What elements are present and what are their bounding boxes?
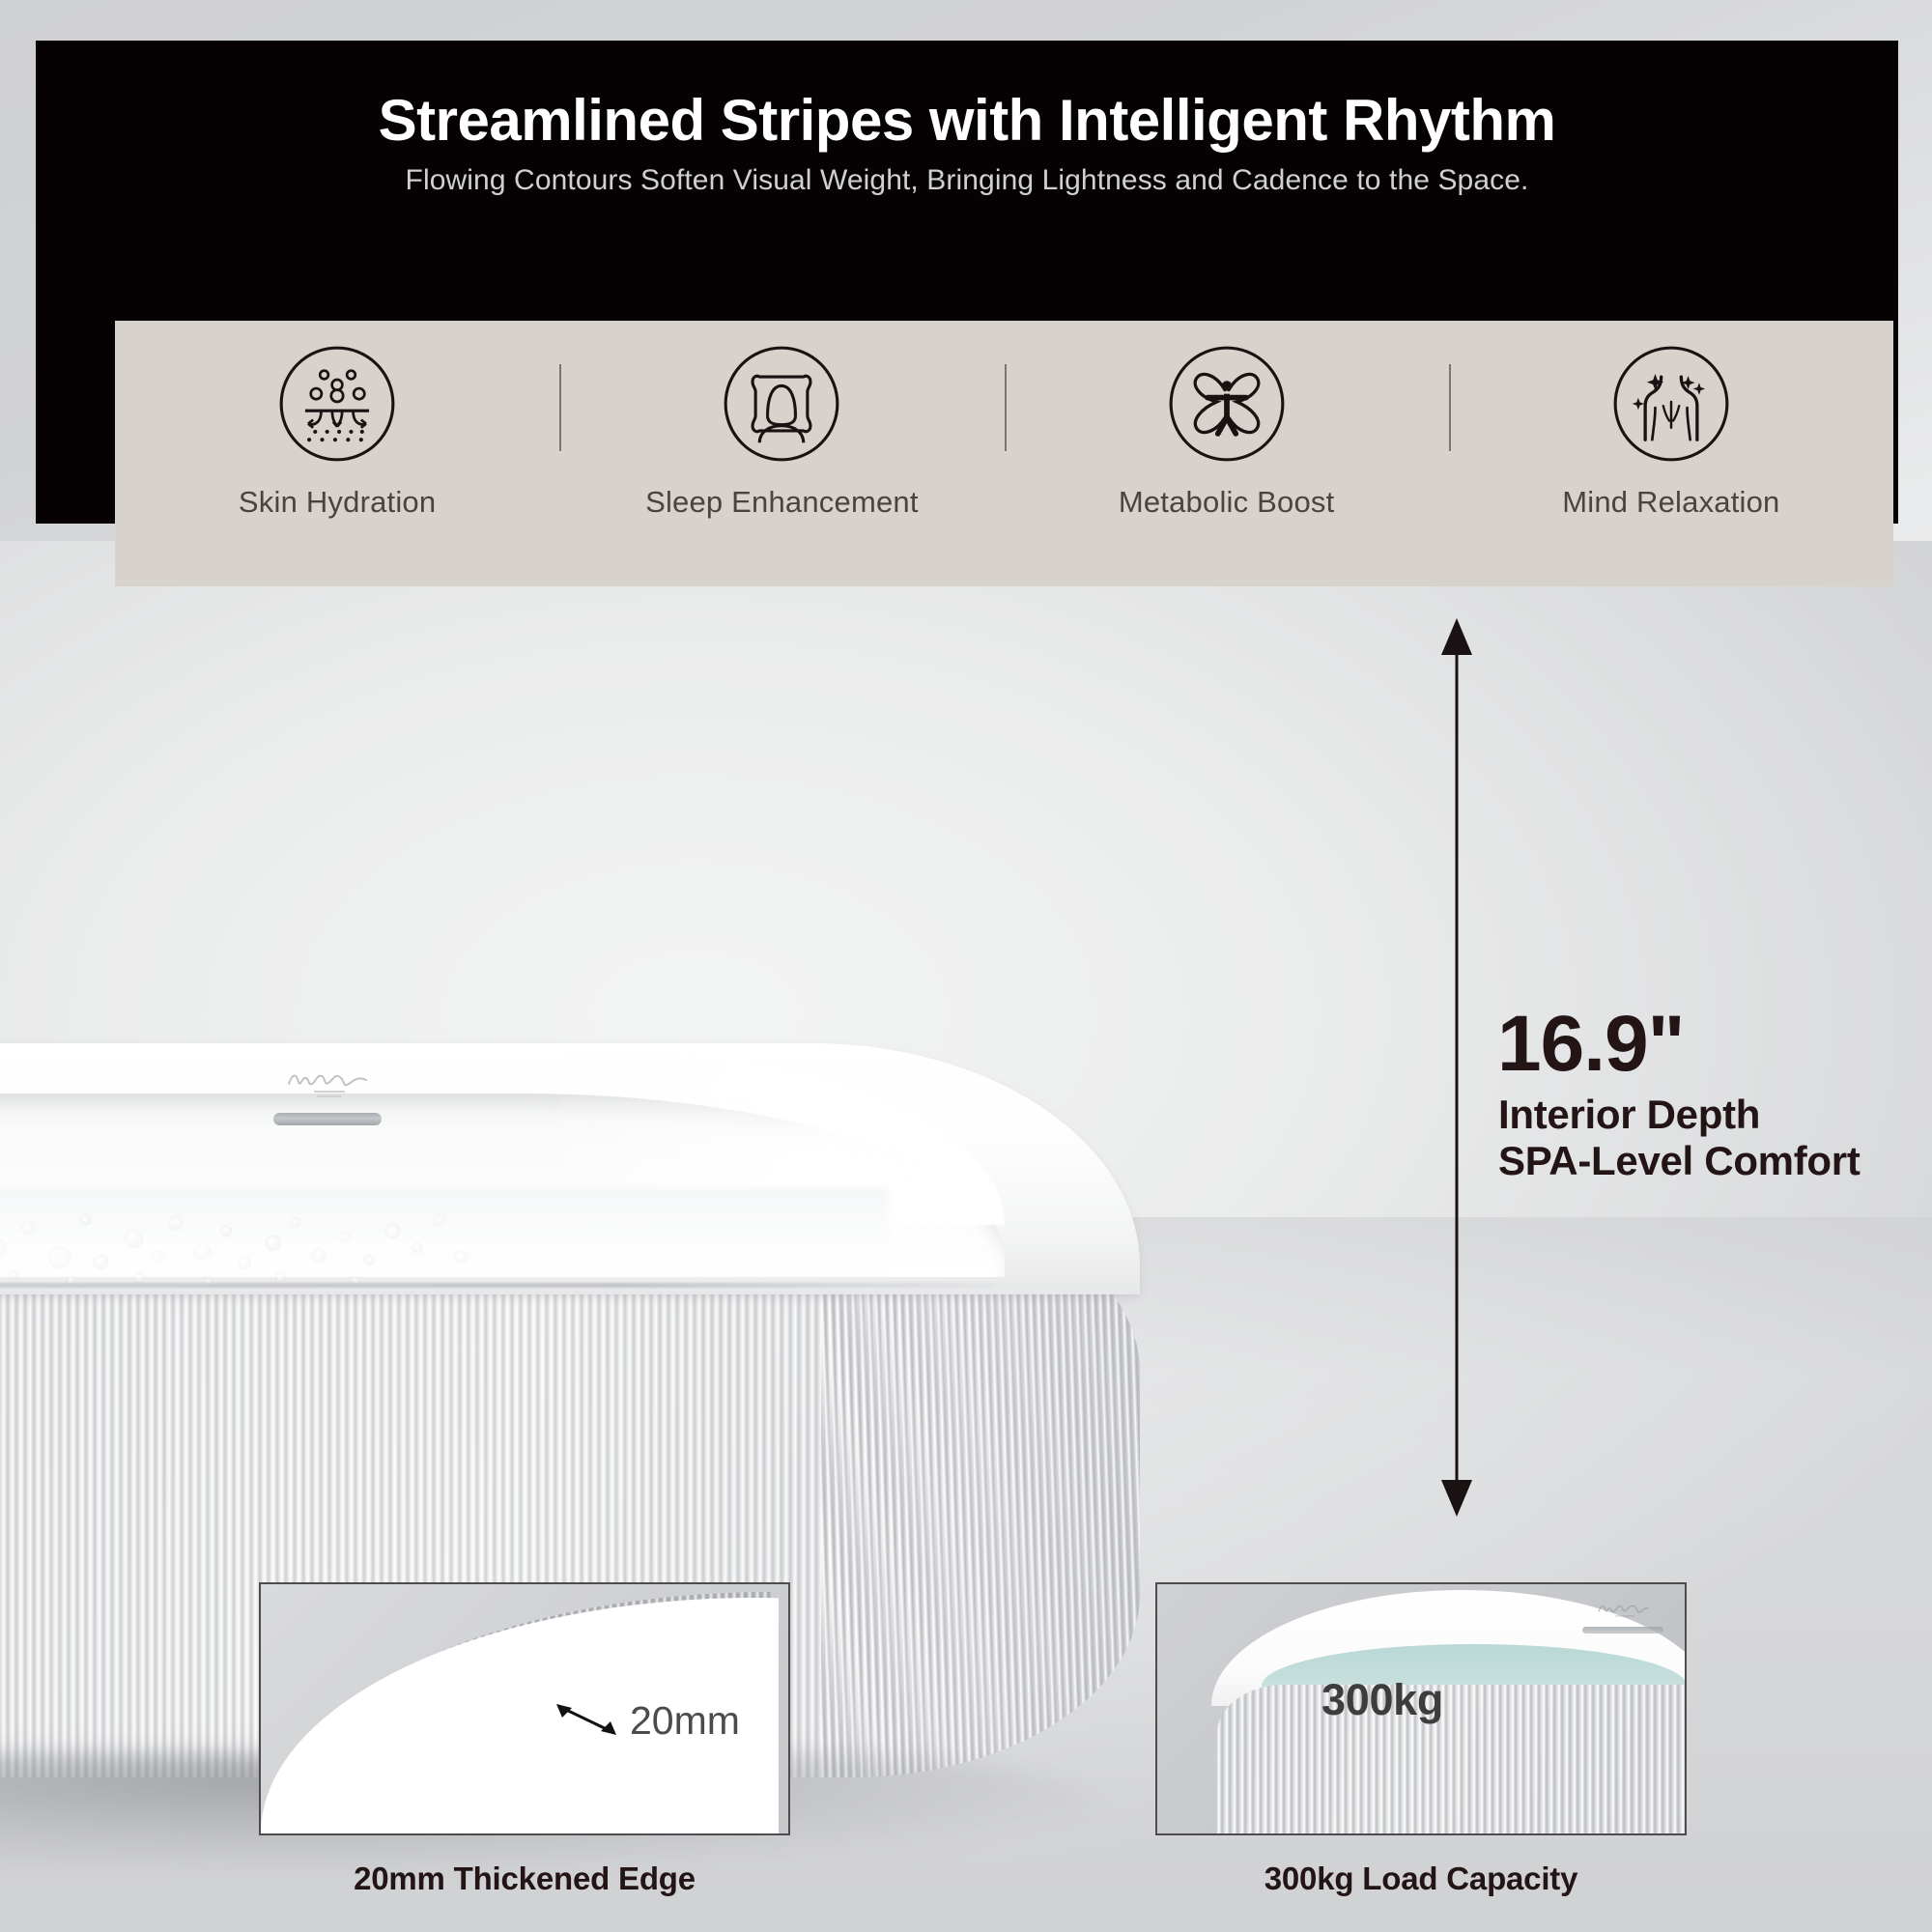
skin-hydration-icon — [277, 344, 397, 464]
feature-label: Skin Hydration — [239, 485, 436, 520]
overflow-drain — [273, 1113, 382, 1125]
product-marketing-page: Streamlined Stripes with Intelligent Rhy… — [0, 0, 1932, 1932]
inset-caption: 300kg Load Capacity — [1155, 1861, 1687, 1897]
tub-rim — [0, 1043, 1140, 1294]
feature-strip: Skin Hydration Sleep Enhancement — [115, 321, 1893, 586]
mind-relaxation-icon — [1611, 344, 1731, 464]
feature-label: Mind Relaxation — [1562, 485, 1779, 520]
edge-thickness-arrow — [551, 1698, 628, 1743]
inset-tub-fluted-body — [1217, 1685, 1687, 1835]
feature-item-mind-relaxation[interactable]: Mind Relaxation — [1449, 321, 1893, 520]
thickened-edge-image: 20mm — [259, 1582, 790, 1835]
feature-label: Metabolic Boost — [1119, 485, 1335, 520]
edge-thickness-label: 20mm — [630, 1698, 740, 1744]
metabolic-boost-icon — [1167, 344, 1287, 464]
feature-item-skin-hydration[interactable]: Skin Hydration — [115, 321, 559, 520]
feature-item-sleep-enhancement[interactable]: Sleep Enhancement — [559, 321, 1004, 520]
depth-description-line1: Interior Depth — [1498, 1092, 1760, 1138]
depth-description-line2: SPA-Level Comfort — [1498, 1138, 1861, 1184]
brand-signature-logo — [285, 1066, 370, 1099]
feature-label: Sleep Enhancement — [645, 485, 919, 520]
inset-overflow-drain — [1582, 1627, 1663, 1634]
header-banner: Streamlined Stripes with Intelligent Rhy… — [36, 41, 1898, 524]
inset-caption: 20mm Thickened Edge — [259, 1861, 790, 1897]
interior-depth-callout: 16.9" Interior Depth SPA-Level Comfort — [1410, 618, 1932, 1546]
page-title: Streamlined Stripes with Intelligent Rhy… — [36, 87, 1898, 154]
inset-card-thickened-edge: 20mm 20mm Thickened Edge — [259, 1582, 790, 1897]
tub-rim-seam — [0, 1283, 995, 1288]
load-capacity-label: 300kg — [1321, 1675, 1443, 1725]
inset-brand-signature-logo — [1596, 1600, 1650, 1621]
depth-value: 16.9" — [1497, 1005, 1684, 1084]
load-capacity-image: 300kg — [1155, 1582, 1687, 1835]
sleep-enhancement-icon — [722, 344, 841, 464]
inset-card-load-capacity: 300kg 300kg Load Capacity — [1155, 1582, 1687, 1897]
feature-item-metabolic-boost[interactable]: Metabolic Boost — [1005, 321, 1449, 520]
page-subtitle: Flowing Contours Soften Visual Weight, B… — [36, 164, 1898, 197]
